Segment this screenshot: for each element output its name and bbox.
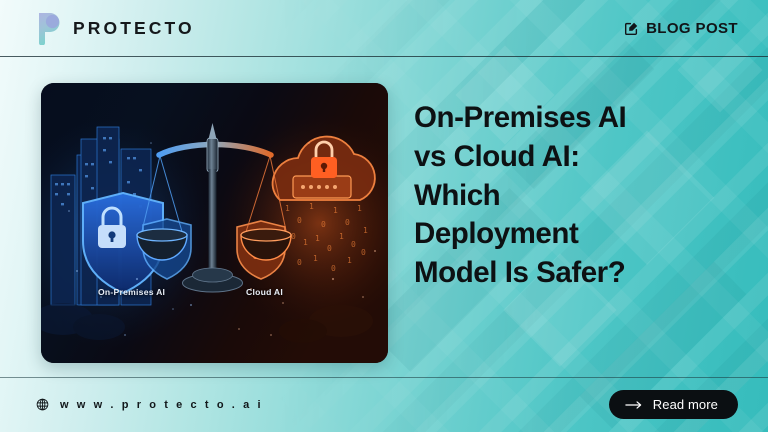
balance-scale-illustration: 101 010 101 101 011 010 10 [41,83,388,363]
protecto-p-logo-icon [36,11,64,45]
hero-caption-cloud: Cloud AI [246,287,283,297]
headline-line-1: On-Premises AI [414,99,744,138]
banner-header: PROTECTO BLOG POST [0,0,768,56]
svg-text:0: 0 [321,220,326,229]
blog-post-banner: PROTECTO BLOG POST [0,0,768,432]
blog-post-tag: BLOG POST [624,20,738,37]
headline-line-2: vs Cloud AI: [414,138,744,177]
svg-text:1: 1 [285,204,290,213]
site-url-text: w w w . p r o t e c t o . a i [60,399,263,411]
blog-post-tag-label: BLOG POST [646,20,738,37]
banner-footer: w w w . p r o t e c t o . a i Read more [0,377,768,432]
svg-text:0: 0 [351,240,356,249]
svg-text:1: 1 [333,206,338,215]
headline-line-3: Which [414,177,744,216]
edit-square-icon [624,21,639,36]
svg-text:1: 1 [347,256,352,265]
arrow-right-icon [625,400,643,410]
brand-logo[interactable]: PROTECTO [36,11,195,45]
svg-text:1: 1 [315,234,320,243]
svg-text:1: 1 [309,202,314,211]
svg-text:0: 0 [297,258,302,267]
globe-icon [36,398,49,411]
site-url-link[interactable]: w w w . p r o t e c t o . a i [36,398,263,411]
svg-text:1: 1 [313,254,318,263]
read-more-label: Read more [653,397,718,412]
headline-line-5: Model Is Safer? [414,254,744,293]
svg-text:0: 0 [331,264,336,273]
svg-text:0: 0 [345,218,350,227]
svg-text:0: 0 [327,244,332,253]
headline-line-4: Deployment [414,215,744,254]
brand-name: PROTECTO [73,18,195,39]
read-more-button[interactable]: Read more [609,390,738,419]
svg-text:1: 1 [339,232,344,241]
hero-image-card: 101 010 101 101 011 010 10 [41,83,388,363]
page-title: On-Premises AI vs Cloud AI: Which Deploy… [414,99,744,293]
svg-text:0: 0 [297,216,302,225]
svg-text:1: 1 [303,238,308,247]
svg-text:1: 1 [363,226,368,235]
svg-text:0: 0 [361,248,366,257]
header-divider [0,56,768,57]
svg-text:1: 1 [357,204,362,213]
hero-caption-on-premises: On-Premises AI [98,287,165,297]
svg-text:0: 0 [291,232,296,241]
